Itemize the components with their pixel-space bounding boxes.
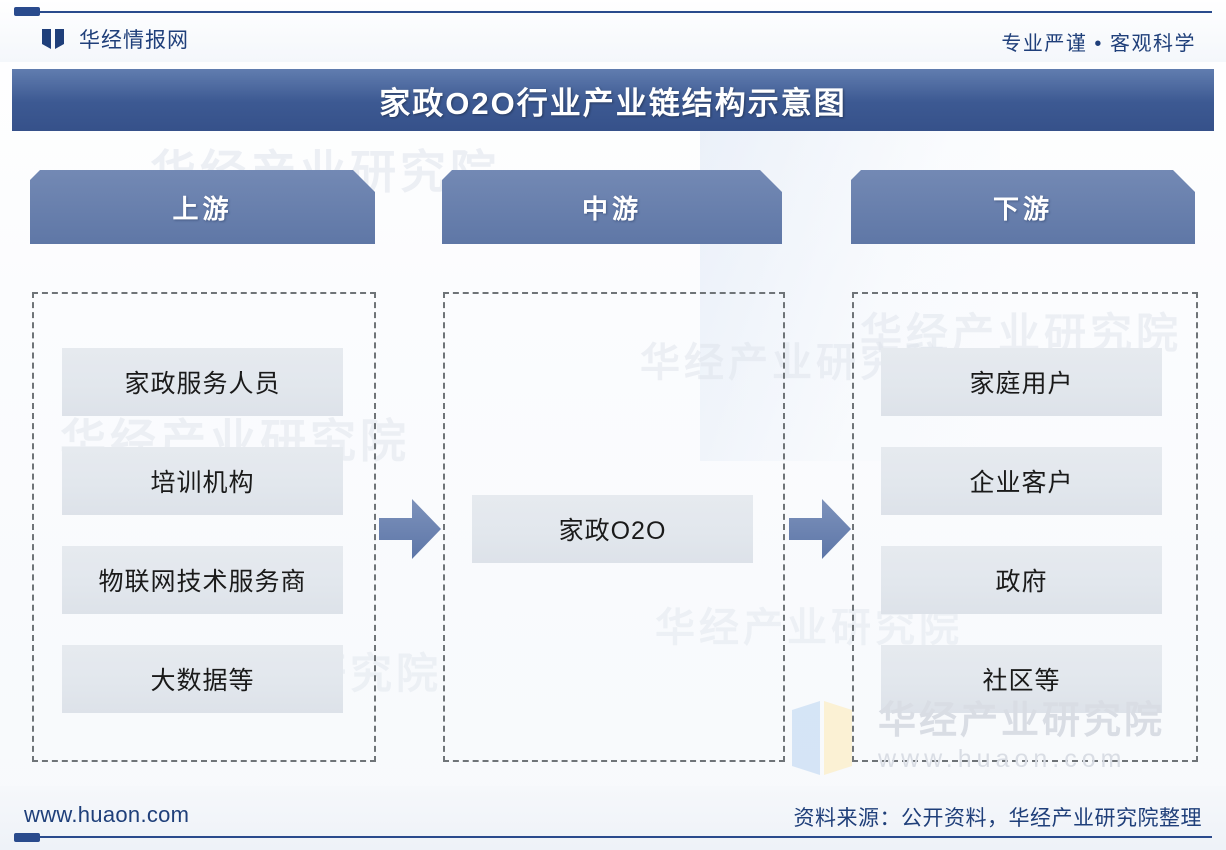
page-footer: www.huaon.com 资料来源：公开资料，华经产业研究院整理 <box>0 786 1226 850</box>
header-tagline: 专业严谨 • 客观科学 <box>1001 27 1196 56</box>
chip-downstream-3[interactable]: 政府 <box>881 546 1162 614</box>
header-divider-rule <box>14 11 1212 13</box>
page-title: 家政O2O行业产业链结构示意图 <box>379 78 846 123</box>
brand[interactable]: 华经情报网 <box>40 24 189 54</box>
chip-upstream-3[interactable]: 物联网技术服务商 <box>62 546 343 614</box>
chip-midstream-1[interactable]: 家政O2O <box>472 495 753 563</box>
diagram-stage: 上游 中游 下游 家政服务人员 培训机构 物联网技术服务商 大数据等 家政O2O… <box>0 131 1226 786</box>
huajing-bars-logo-icon <box>40 26 66 52</box>
stage-banner-downstream: 下游 <box>851 170 1195 244</box>
chip-downstream-2[interactable]: 企业客户 <box>881 447 1162 515</box>
stage-banner-midstream: 中游 <box>442 170 782 244</box>
chip-upstream-2[interactable]: 培训机构 <box>62 447 343 515</box>
chip-downstream-4[interactable]: 社区等 <box>881 645 1162 713</box>
stage-label-midstream: 中游 <box>582 189 642 226</box>
page-header: 华经情报网 专业严谨 • 客观科学 <box>0 0 1226 62</box>
brand-name: 华经情报网 <box>79 24 189 54</box>
footer-divider-rule <box>14 836 1212 838</box>
chart-title-band: 家政O2O行业产业链结构示意图 <box>12 69 1214 131</box>
footer-source-note: 资料来源：公开资料，华经产业研究院整理 <box>794 802 1203 832</box>
header-divider-cap <box>14 7 40 16</box>
footer-divider-cap <box>14 833 40 842</box>
right-arrow-icon <box>379 499 441 559</box>
chip-downstream-1[interactable]: 家庭用户 <box>881 348 1162 416</box>
right-arrow-icon <box>789 499 851 559</box>
chip-upstream-4[interactable]: 大数据等 <box>62 645 343 713</box>
stage-label-downstream: 下游 <box>993 189 1053 226</box>
stage-label-upstream: 上游 <box>172 189 232 226</box>
chip-upstream-1[interactable]: 家政服务人员 <box>62 348 343 416</box>
footer-website-link[interactable]: www.huaon.com <box>24 802 189 828</box>
page-root: 华经情报网 专业严谨 • 客观科学 家政O2O行业产业链结构示意图 华经产业研究… <box>0 0 1226 850</box>
stage-banner-upstream: 上游 <box>30 170 375 244</box>
